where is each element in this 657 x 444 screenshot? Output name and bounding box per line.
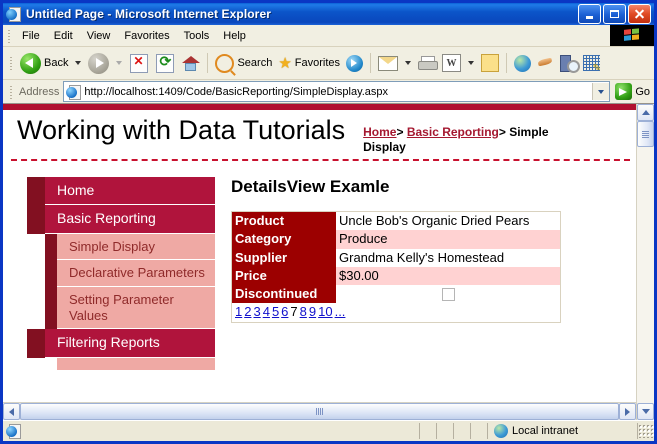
security-zone[interactable]: Local intranet [488, 423, 638, 439]
pager-link-4[interactable]: 4 [263, 304, 270, 319]
pager-link-more[interactable]: ... [335, 304, 346, 319]
menu-item-edit[interactable]: Edit [47, 28, 80, 44]
status-cell-2 [437, 423, 454, 439]
details-view-wrapper: Product Uncle Bob's Organic Dried Pears … [231, 211, 561, 323]
sidebar-nav: Home Basic Reporting Simple Display Decl… [3, 177, 215, 402]
content-heading: DetailsView Examle [231, 177, 628, 197]
breadcrumb-separator-2: > [499, 125, 506, 139]
chevron-up-icon [642, 110, 650, 115]
breadcrumb-separator-1: > [396, 125, 403, 139]
field-label-discontinued: Discontinued [232, 285, 336, 303]
go-button[interactable]: Go [615, 83, 650, 100]
horizontal-scrollbar[interactable] [3, 402, 636, 420]
stop-icon [130, 54, 148, 73]
field-value-price: $30.00 [336, 267, 560, 285]
back-icon [20, 53, 41, 74]
field-label-category: Category [232, 230, 336, 248]
table-row: Price $30.00 [232, 267, 560, 285]
menu-item-help[interactable]: Help [216, 28, 253, 44]
status-cell-4 [471, 423, 488, 439]
menu-item-tools[interactable]: Tools [177, 28, 217, 44]
edit-dropdown-icon[interactable] [468, 61, 474, 65]
mail-button[interactable] [375, 50, 401, 76]
table-row: Category Produce [232, 230, 560, 248]
menu-item-favorites[interactable]: Favorites [117, 28, 176, 44]
menu-item-file[interactable]: File [15, 28, 47, 44]
address-grip-handle[interactable] [8, 84, 15, 100]
back-button[interactable]: Back [17, 50, 71, 76]
pager-row: 12345678910... [232, 303, 560, 321]
chevron-down-icon [642, 409, 650, 414]
address-dropdown-button[interactable] [592, 83, 609, 100]
scroll-left-button[interactable] [3, 403, 20, 420]
page-viewport: Working with Data Tutorials Home> Basic … [3, 104, 654, 420]
field-value-discontinued [336, 285, 560, 303]
vertical-scroll-thumb[interactable] [637, 121, 654, 147]
ie-document-icon [66, 84, 81, 99]
toolbar-divider [207, 53, 208, 73]
pager: 12345678910... [232, 303, 560, 321]
globe-icon [514, 55, 531, 72]
field-value-category: Produce [336, 230, 560, 248]
vertical-scrollbar[interactable] [636, 104, 654, 420]
search-icon [215, 54, 234, 73]
table-row: Supplier Grandma Kelly's Homestead [232, 249, 560, 267]
search-button[interactable]: Search [212, 50, 275, 76]
media-icon [346, 55, 363, 72]
edit-button[interactable]: W [439, 50, 464, 76]
page-body: Home Basic Reporting Simple Display Decl… [3, 161, 636, 402]
scroll-right-button[interactable] [619, 403, 636, 420]
sidebar-item-partial[interactable] [57, 358, 215, 371]
page-title: Working with Data Tutorials [17, 116, 345, 144]
breadcrumb: Home> Basic Reporting> Simple Display [363, 125, 578, 155]
pager-current-page: 7 [290, 304, 297, 319]
field-value-supplier: Grandma Kelly's Homestead [336, 249, 560, 267]
pager-link-5[interactable]: 5 [272, 304, 279, 319]
home-button[interactable] [178, 50, 203, 76]
sidebar-item-declarative-parameters[interactable]: Declarative Parameters [57, 260, 215, 287]
favorites-star-icon: ★ [278, 56, 291, 71]
ie-document-icon [6, 423, 22, 439]
globe-button[interactable] [511, 50, 534, 76]
windows-flag-icon [610, 25, 654, 46]
pager-link-8[interactable]: 8 [300, 304, 307, 319]
menu-item-view[interactable]: View [80, 28, 118, 44]
breadcrumb-link-basic-reporting[interactable]: Basic Reporting [407, 125, 499, 139]
window-controls [578, 4, 652, 24]
pager-link-3[interactable]: 3 [253, 304, 260, 319]
toolbar-divider-2 [370, 53, 371, 73]
sidebar-item-filtering-reports[interactable]: Filtering Reports [45, 329, 215, 357]
field-label-supplier: Supplier [232, 249, 336, 267]
web-page: Working with Data Tutorials Home> Basic … [3, 104, 636, 420]
research-button[interactable] [557, 50, 580, 76]
scroll-grip-icon [316, 408, 323, 415]
toolbar-divider-3 [506, 53, 507, 73]
address-label: Address [19, 86, 59, 98]
discontinued-checkbox [442, 288, 455, 301]
title-bar: Untitled Page - Microsoft Internet Explo… [3, 3, 654, 25]
go-arrow-icon [615, 83, 632, 100]
sidebar-item-basic-reporting[interactable]: Basic Reporting [45, 205, 215, 233]
horizontal-scroll-thumb[interactable] [20, 403, 619, 420]
sidebar-item-simple-display[interactable]: Simple Display [57, 234, 215, 261]
globe-icon [494, 424, 508, 438]
pager-link-6[interactable]: 6 [281, 304, 288, 319]
breadcrumb-link-home[interactable]: Home [363, 125, 396, 139]
notes-icon [481, 54, 499, 72]
scroll-up-button[interactable] [637, 104, 654, 121]
matrix-icon [583, 55, 600, 71]
forward-button [85, 50, 112, 76]
refresh-icon [156, 54, 174, 73]
pointer-icon [537, 56, 554, 71]
pager-link-2[interactable]: 2 [244, 304, 251, 319]
notes-button[interactable] [478, 50, 502, 76]
matrix-button[interactable] [580, 50, 603, 76]
forward-dropdown-icon [116, 61, 122, 65]
status-cell-3 [454, 423, 471, 439]
pointer-button[interactable] [534, 50, 557, 76]
status-cell-1 [420, 423, 437, 439]
address-url-text: http://localhost:1409/Code/BasicReportin… [84, 86, 592, 98]
mail-icon [378, 56, 398, 71]
stop-button[interactable] [126, 50, 152, 76]
pager-link-9[interactable]: 9 [309, 304, 316, 319]
menu-bar: File Edit View Favorites Tools Help [3, 25, 654, 47]
print-button[interactable] [415, 50, 439, 76]
status-message [25, 423, 420, 439]
ie-document-icon [6, 6, 22, 22]
minimize-button[interactable] [578, 4, 601, 24]
table-row: Discontinued [232, 285, 560, 303]
toolbar-grip-handle[interactable] [8, 55, 15, 71]
media-button[interactable] [343, 50, 366, 76]
back-dropdown-icon[interactable] [75, 61, 81, 65]
forward-icon [88, 53, 109, 74]
close-button[interactable] [628, 4, 651, 24]
field-value-product: Uncle Bob's Organic Dried Pears [336, 212, 560, 230]
table-row: Product Uncle Bob's Organic Dried Pears [232, 212, 560, 230]
status-bar: Local intranet [3, 420, 654, 441]
maximize-button[interactable] [603, 4, 626, 24]
pager-link-10[interactable]: 10 [318, 304, 332, 319]
research-icon [560, 55, 577, 71]
menu-grip-handle[interactable] [6, 28, 13, 44]
sidebar-item-home[interactable]: Home [45, 177, 215, 205]
window-title: Untitled Page - Microsoft Internet Explo… [26, 7, 578, 21]
print-icon [418, 56, 436, 70]
chevron-right-icon [625, 408, 630, 416]
refresh-button[interactable] [152, 50, 178, 76]
chevron-down-icon [598, 90, 604, 94]
field-label-price: Price [232, 267, 336, 285]
details-view-table: Product Uncle Bob's Organic Dried Pears … [232, 212, 560, 322]
vertical-scroll-track[interactable] [637, 147, 654, 403]
address-bar: Address http://localhost:1409/Code/Basic… [3, 80, 654, 104]
address-input[interactable]: http://localhost:1409/Code/BasicReportin… [63, 81, 610, 102]
page-header: Working with Data Tutorials Home> Basic … [3, 110, 636, 155]
favorites-button[interactable]: ★ Favorites [275, 50, 343, 76]
main-content: DetailsView Examle Product Uncle Bob's O… [215, 177, 636, 402]
browser-toolbar: Back Search ★ Favorites [3, 47, 654, 80]
home-icon [181, 55, 200, 72]
field-label-product: Product [232, 212, 336, 230]
pager-link-1[interactable]: 1 [235, 304, 242, 319]
resize-grip[interactable] [638, 424, 654, 438]
scroll-grip-icon [642, 131, 649, 138]
mail-dropdown-icon[interactable] [405, 61, 411, 65]
scroll-down-button[interactable] [637, 403, 654, 420]
sidebar-item-setting-parameter-values[interactable]: Setting Parameter Values [57, 287, 215, 329]
security-zone-label: Local intranet [512, 425, 578, 437]
chevron-left-icon [9, 408, 14, 416]
browser-window: Untitled Page - Microsoft Internet Explo… [0, 0, 657, 444]
edit-word-icon: W [442, 54, 461, 72]
